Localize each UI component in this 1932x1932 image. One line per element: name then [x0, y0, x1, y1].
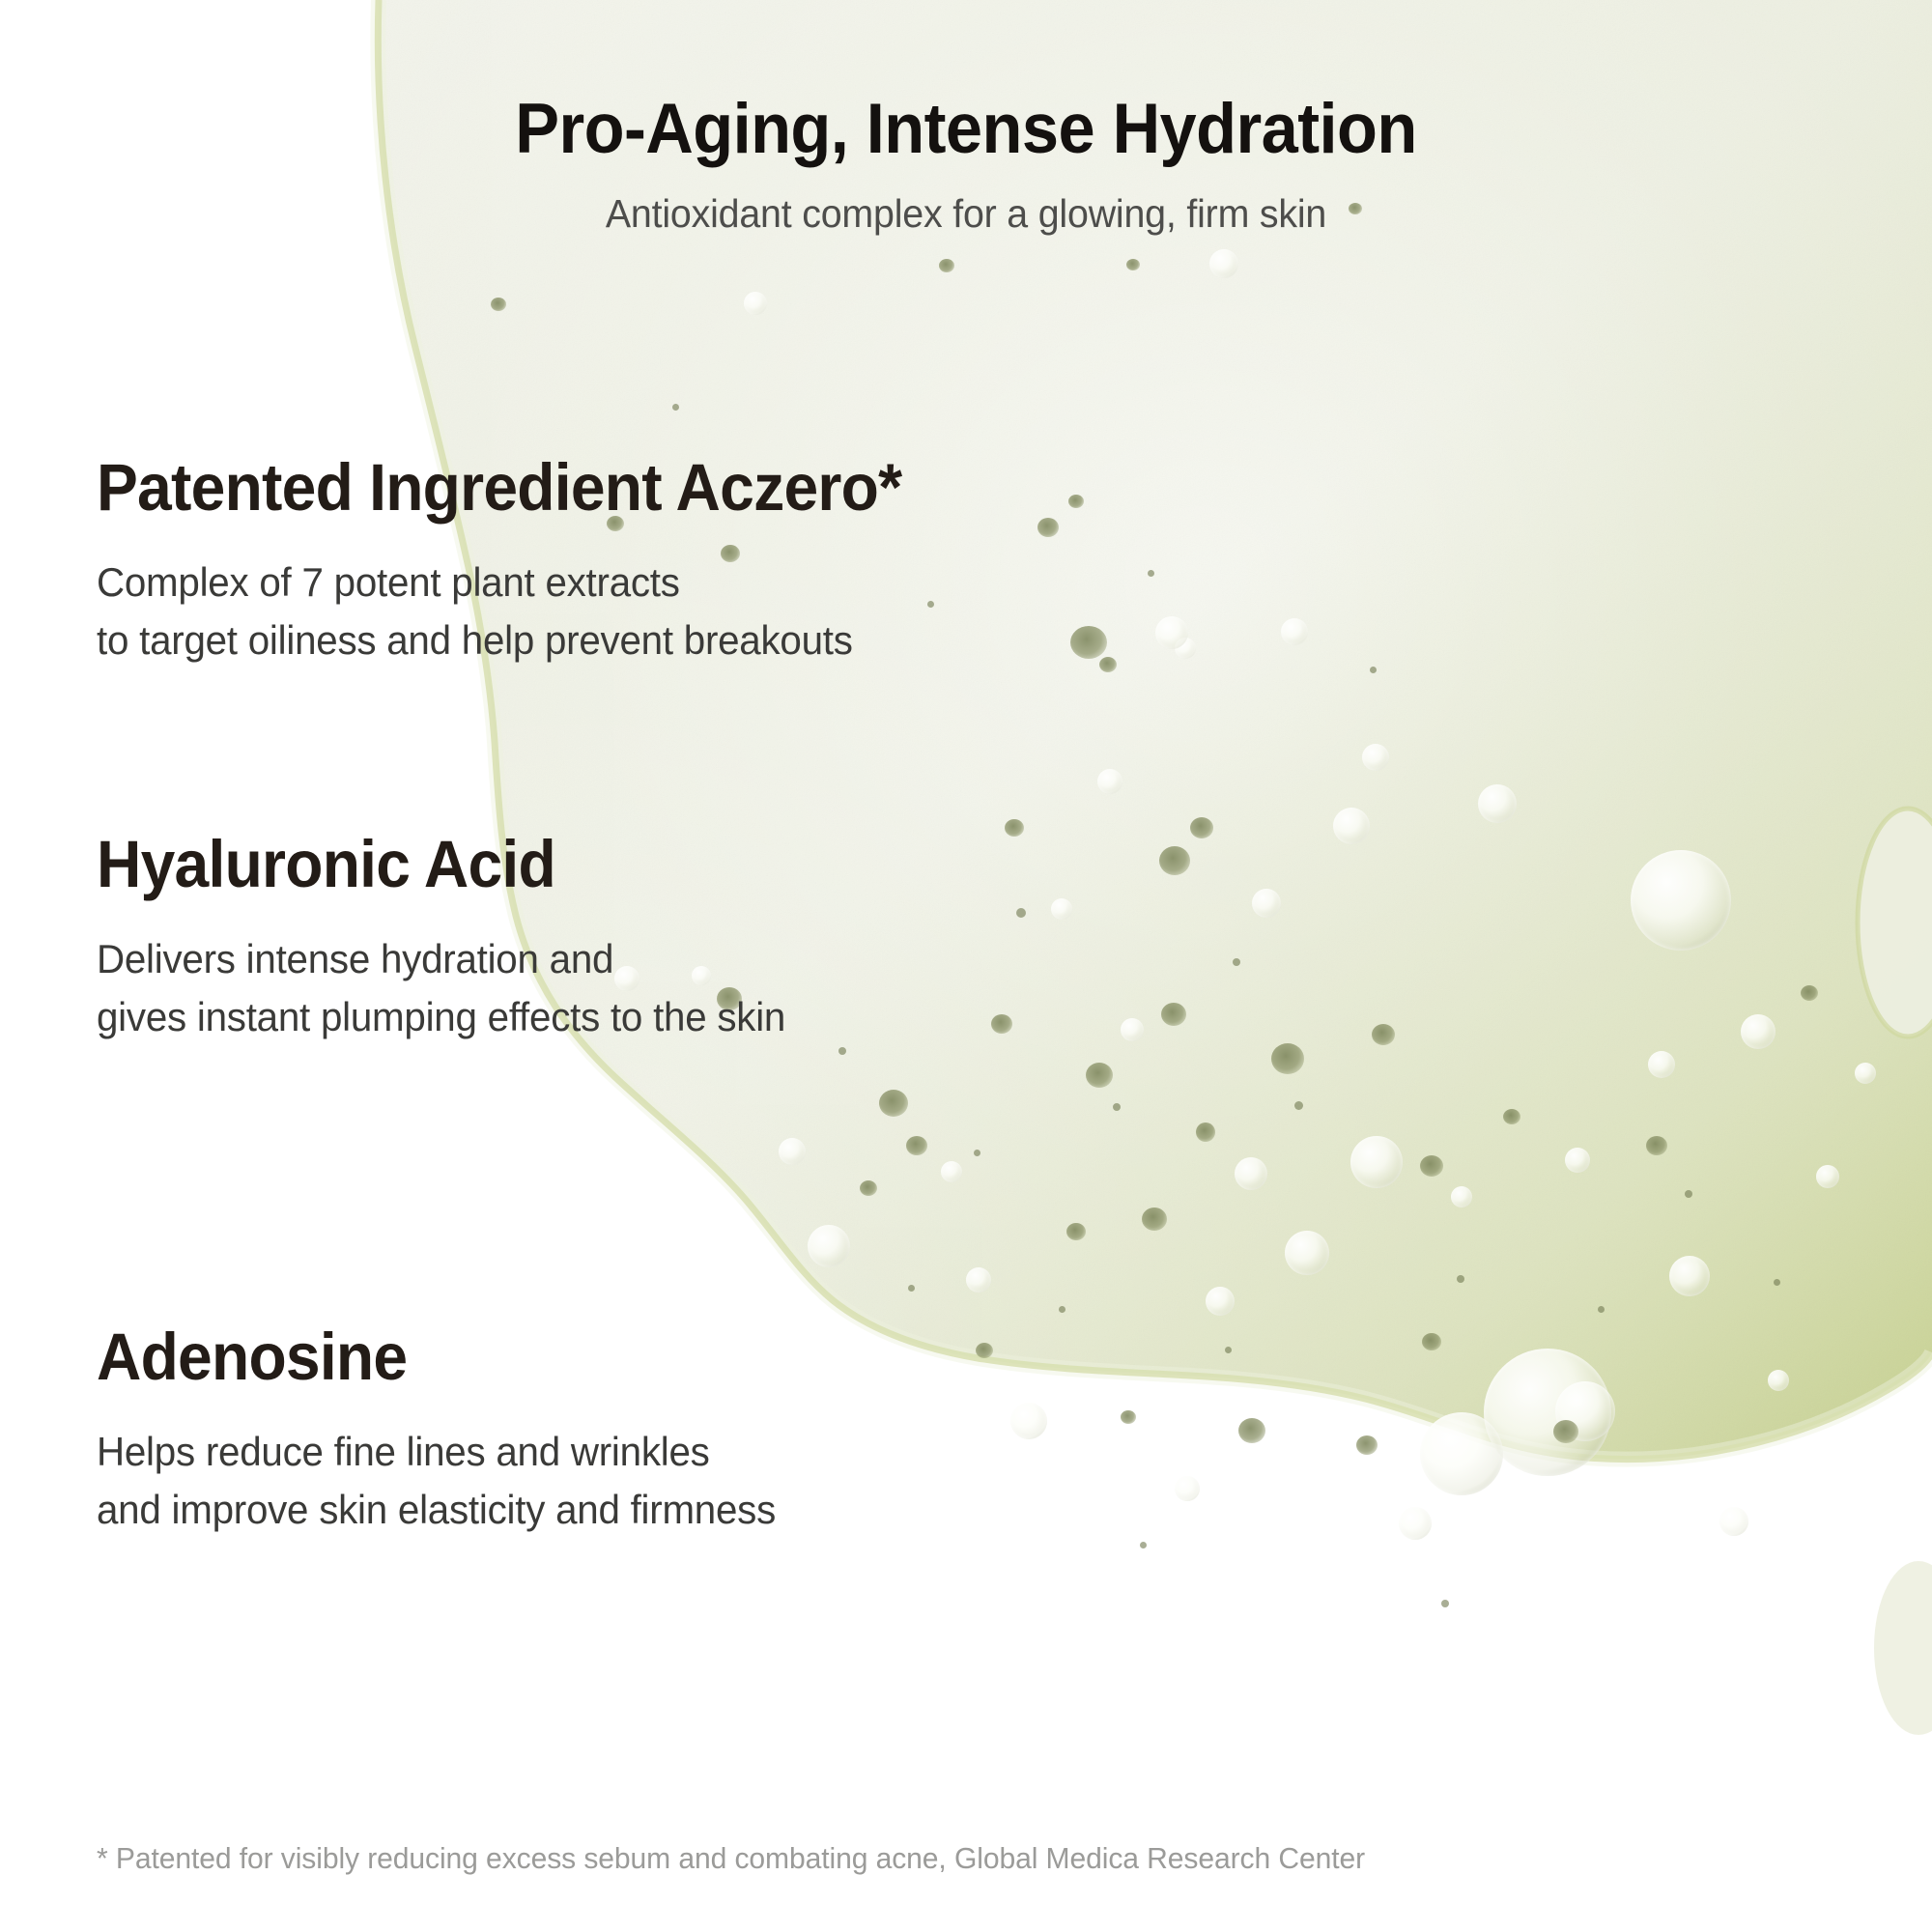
section-hyaluronic-acid: Hyaluronic Acid Delivers intense hydrati…	[97, 831, 814, 1045]
hero-header: Pro-Aging, Intense Hydration Antioxidant…	[0, 93, 1932, 237]
footnote-disclaimer: * Patented for visibly reducing excess s…	[97, 1841, 1365, 1876]
section-body-hyaluronic-acid: Delivers intense hydration and gives ins…	[97, 930, 785, 1045]
section-patented-ingredient-aczero: Patented Ingredient Aczero* Complex of 7…	[97, 454, 962, 668]
section-heading-adenosine: Adenosine	[97, 1323, 754, 1390]
section-heading-aczero: Patented Ingredient Aczero*	[97, 454, 901, 521]
section-body-line: to target oiliness and help prevent brea…	[97, 611, 927, 669]
section-body-line: Complex of 7 potent plant extracts	[97, 554, 927, 611]
page-subtitle: Antioxidant complex for a glowing, firm …	[39, 191, 1893, 237]
section-body-adenosine: Helps reduce fine lines and wrinkles and…	[97, 1423, 776, 1538]
section-body-line: gives instant plumping effects to the sk…	[97, 988, 785, 1046]
section-body-line: Delivers intense hydration and	[97, 930, 785, 988]
section-body-line: Helps reduce fine lines and wrinkles	[97, 1423, 776, 1481]
section-body-aczero: Complex of 7 potent plant extracts to ta…	[97, 554, 927, 668]
section-heading-hyaluronic-acid: Hyaluronic Acid	[97, 831, 764, 897]
page-title: Pro-Aging, Intense Hydration	[58, 93, 1874, 166]
section-body-line: and improve skin elasticity and firmness	[97, 1481, 776, 1539]
section-adenosine: Adenosine Helps reduce fine lines and wr…	[97, 1323, 804, 1538]
